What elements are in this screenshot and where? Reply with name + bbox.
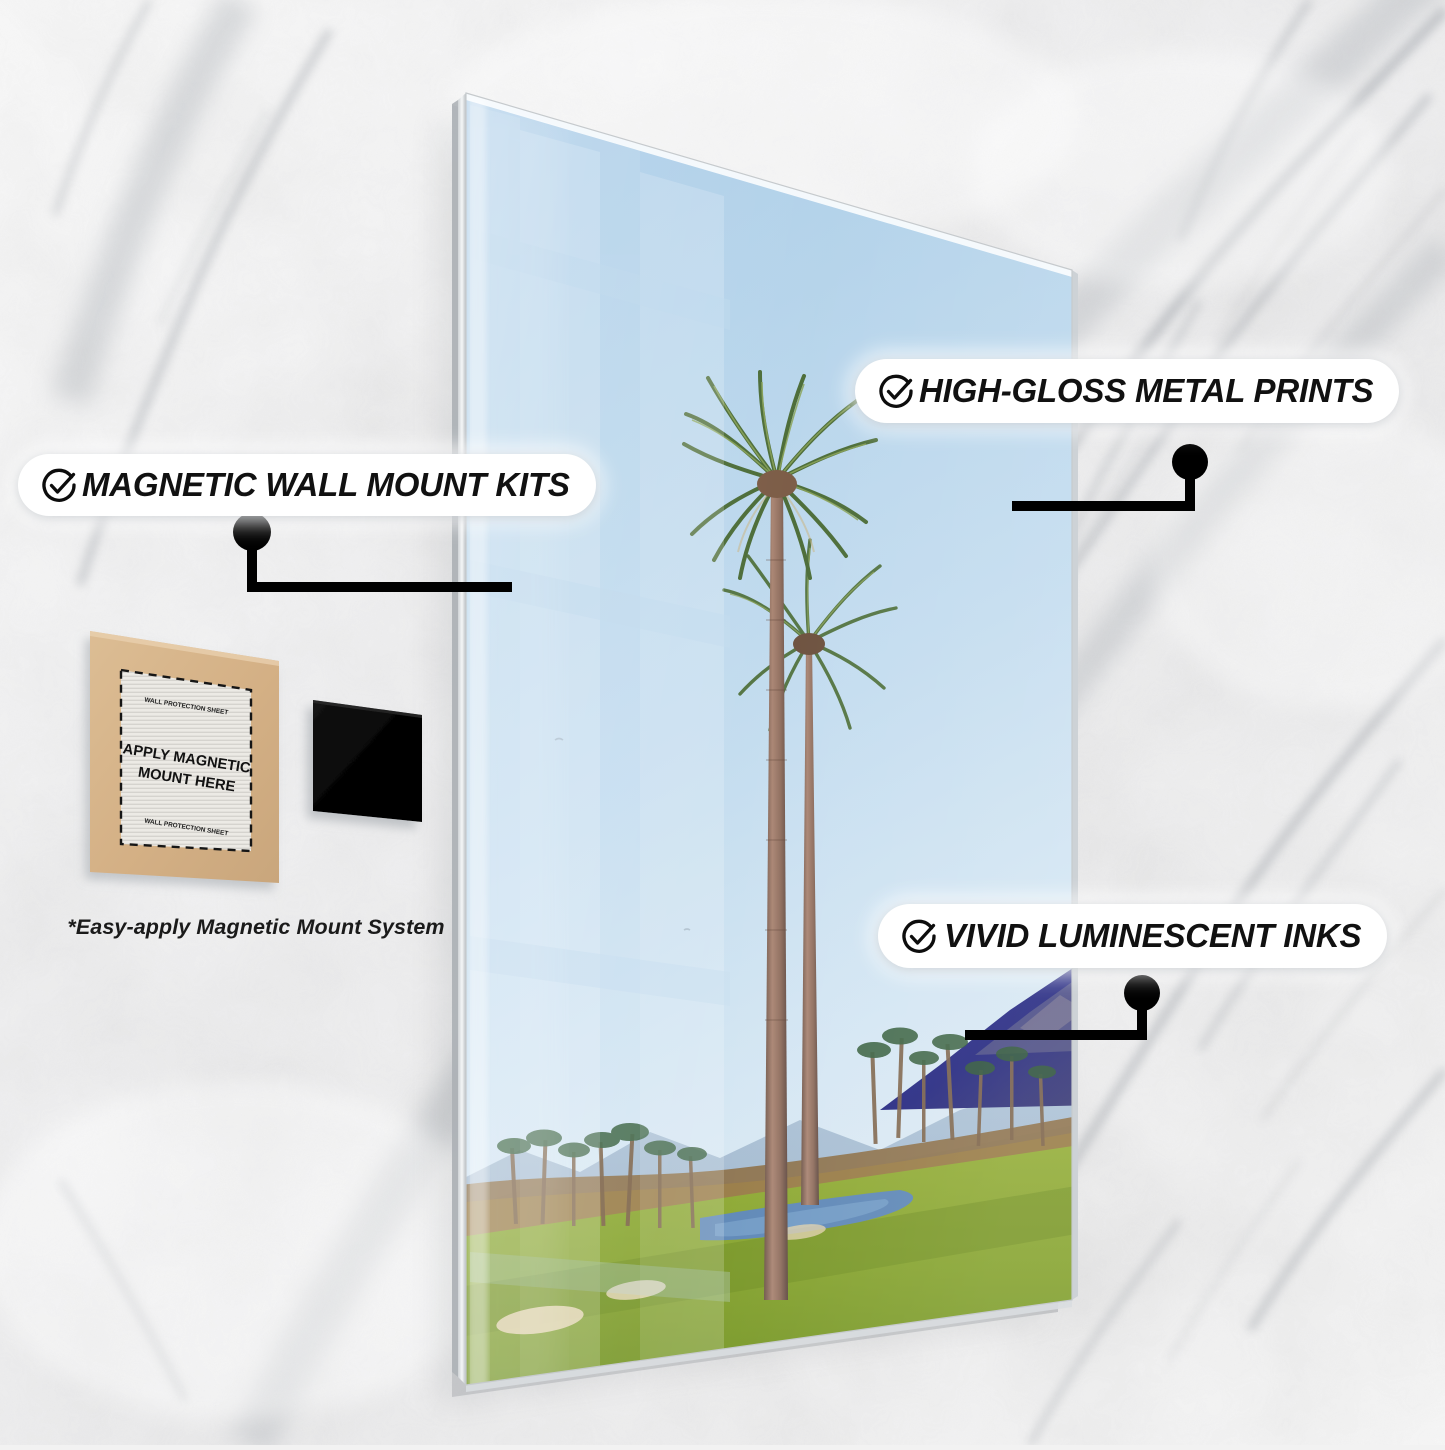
check-circle-icon [900,917,938,955]
check-circle-icon [40,466,78,504]
magnetic-mount-illustration: WALL PROTECTION SHEET APPLY MAGNETIC MOU… [60,615,450,915]
feature-badge-gloss[interactable]: HIGH-GLOSS METAL PRINTS [855,359,1399,423]
magnet-plate [313,700,422,822]
feature-badge-label: MAGNETIC WALL MOUNT KITS [82,466,570,504]
feature-badge-magnetic[interactable]: MAGNETIC WALL MOUNT KITS [18,454,596,516]
feature-badge-label: VIVID LUMINESCENT INKS [944,917,1361,955]
feature-badge-inks[interactable]: VIVID LUMINESCENT INKS [878,904,1387,968]
feature-badge-label: HIGH-GLOSS METAL PRINTS [919,372,1373,410]
check-circle-icon [877,372,915,410]
mount-kit-caption: *Easy-apply Magnetic Mount System [46,915,466,940]
